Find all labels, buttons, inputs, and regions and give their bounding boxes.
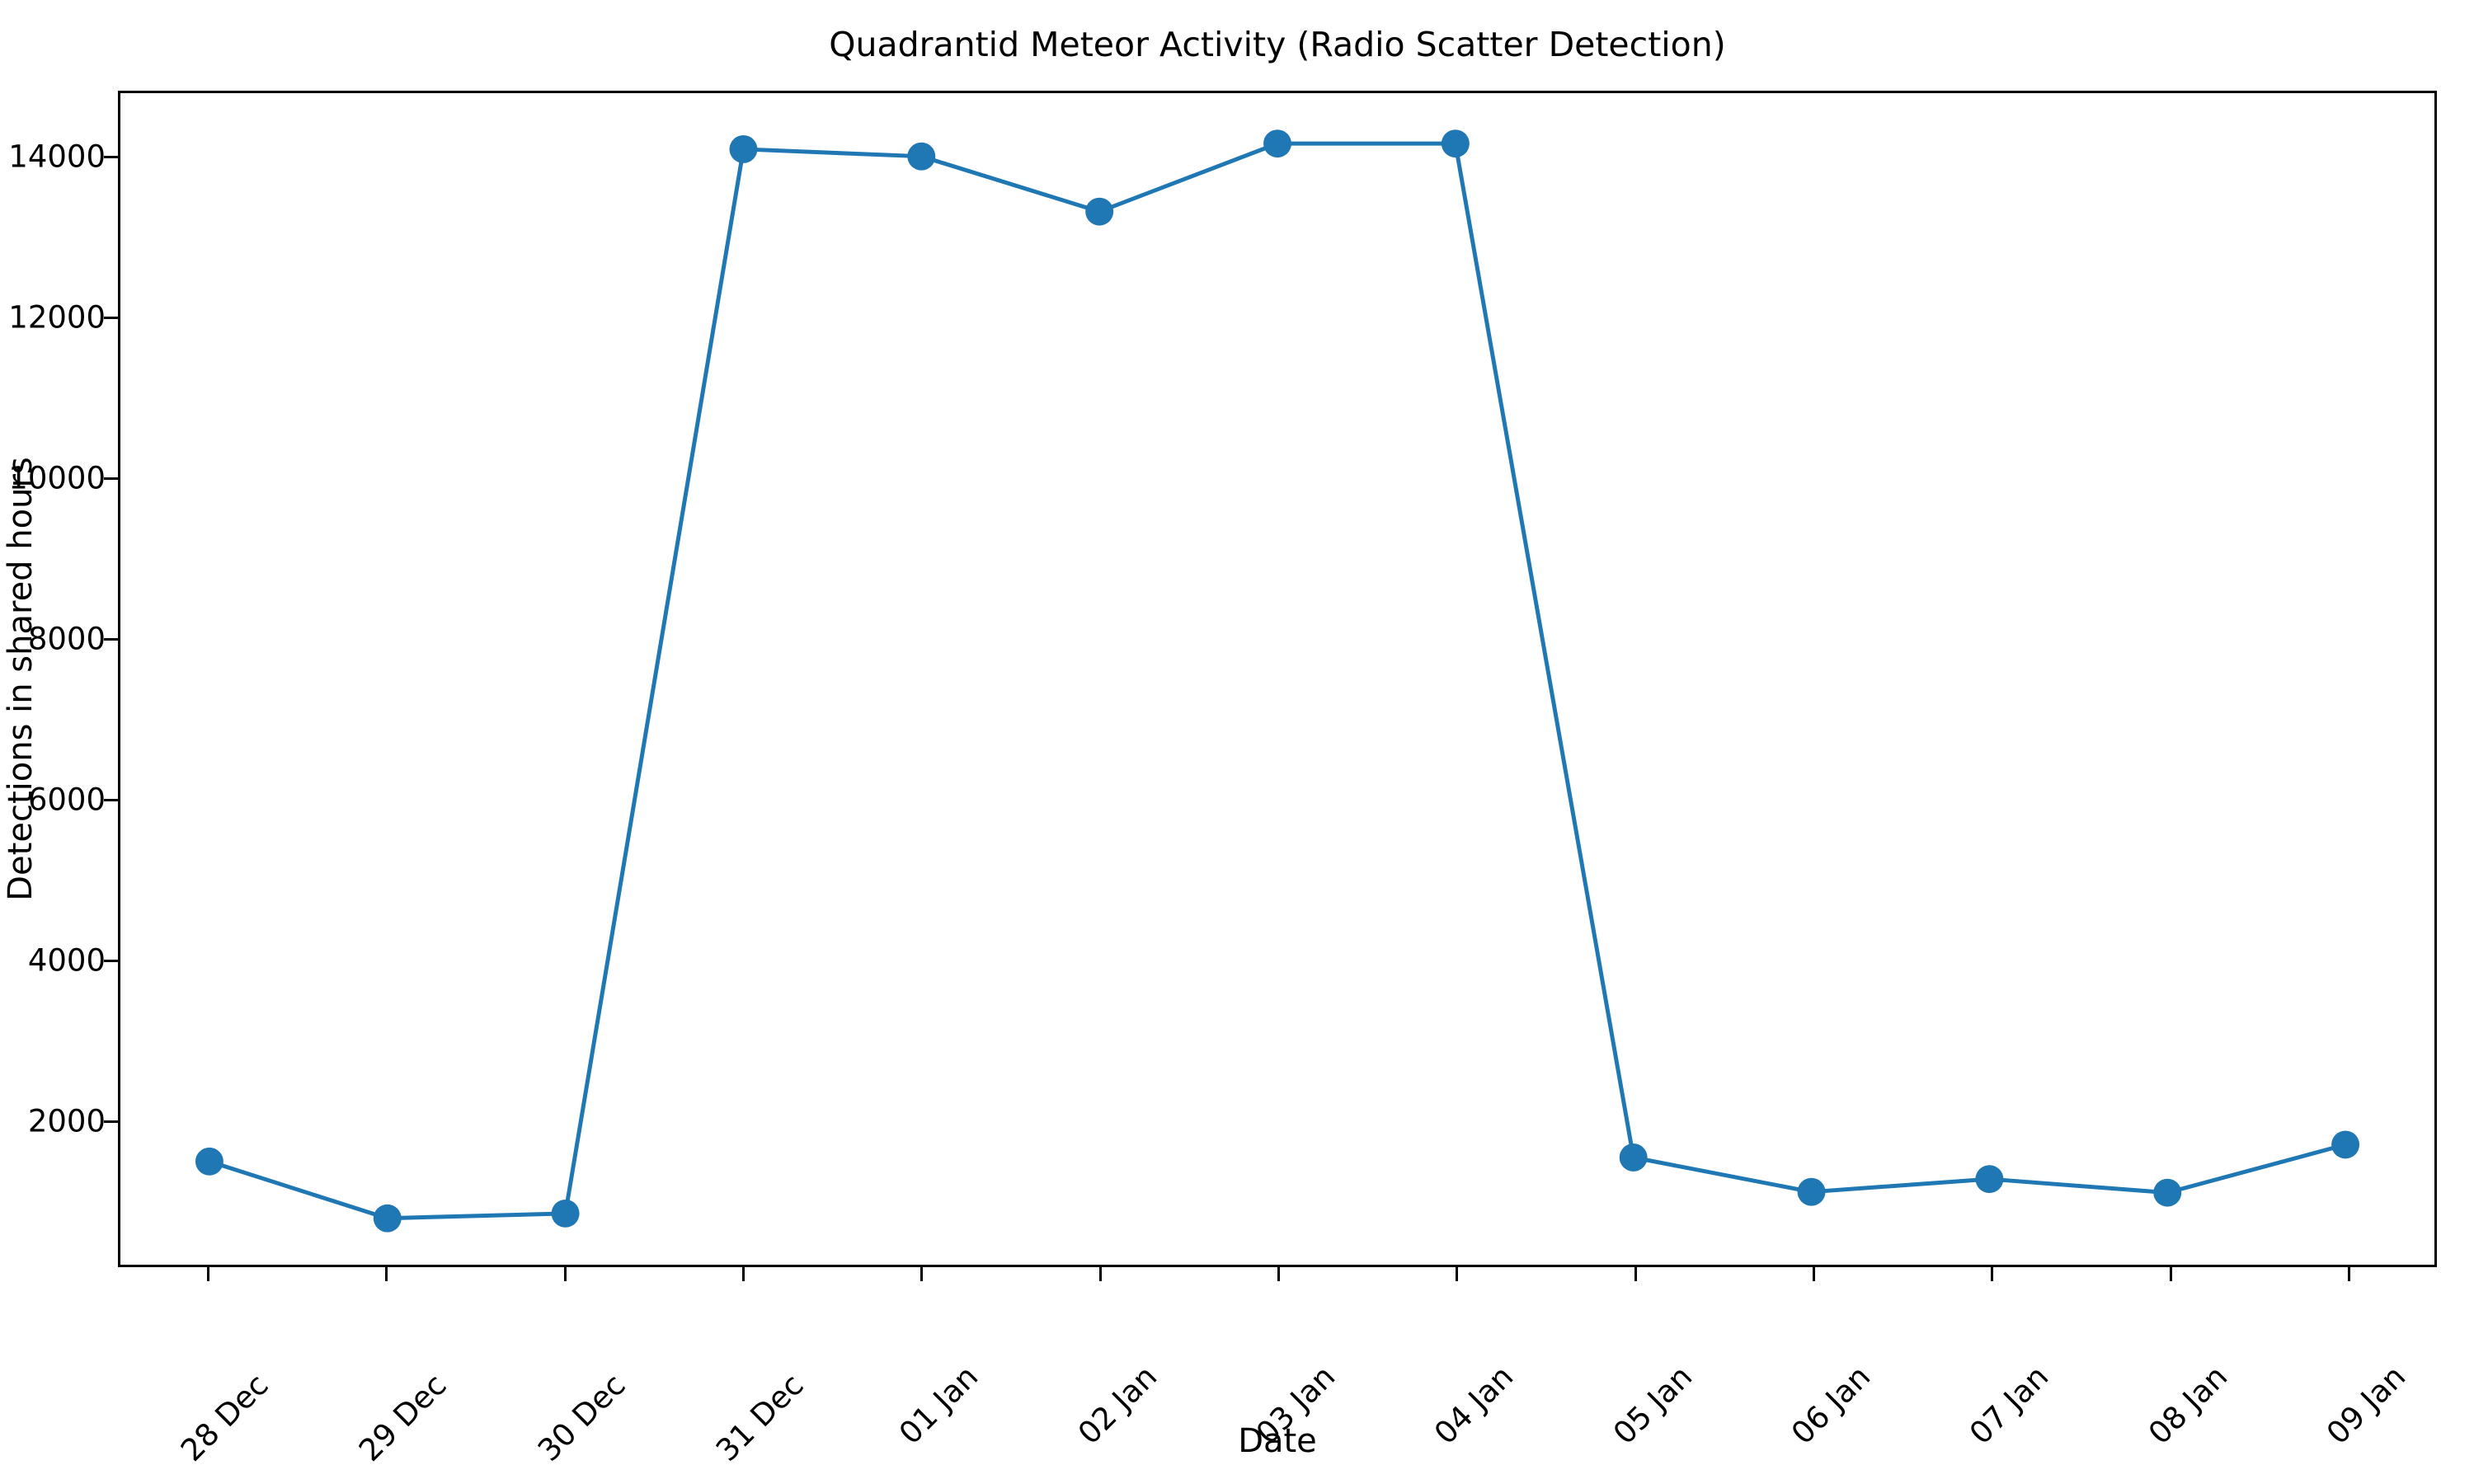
data-point-marker [907, 143, 935, 171]
x-tick-mark [207, 1267, 209, 1281]
data-point-marker [730, 135, 758, 163]
y-tick-mark [104, 317, 118, 319]
y-tick-mark [104, 477, 118, 480]
x-tick-mark [1099, 1267, 1102, 1281]
chart-title-container: Quadrantid Meteor Activity (Radio Scatte… [118, 25, 2437, 64]
x-tick-label: 07 Jan [2030, 1291, 2123, 1383]
data-point-marker [2153, 1179, 2181, 1207]
data-point-marker [195, 1148, 223, 1176]
x-tick-label: 03 Jan [1317, 1291, 1409, 1383]
series-line [209, 143, 2345, 1219]
x-tick-label: 01 Jan [960, 1291, 1052, 1383]
x-tick-label: 29 Dec [429, 1291, 530, 1392]
x-tick-mark [564, 1267, 567, 1281]
line-series-svg [120, 93, 2434, 1265]
x-tick-label: 06 Jan [1852, 1291, 1945, 1383]
x-tick-mark [920, 1267, 923, 1281]
data-point-marker [1620, 1144, 1648, 1172]
x-tick-mark [742, 1267, 745, 1281]
y-tick-mark [104, 638, 118, 641]
chart-figure: Quadrantid Meteor Activity (Radio Scatte… [0, 0, 2474, 1484]
x-tick-label: 02 Jan [1139, 1291, 1231, 1383]
x-tick-label: 09 Jan [2387, 1291, 2474, 1383]
x-tick-label: 08 Jan [2208, 1291, 2301, 1383]
x-tick-label: 31 Dec [785, 1291, 887, 1392]
y-tick-mark [104, 156, 118, 158]
x-tick-mark [1813, 1267, 1815, 1281]
data-point-marker [1975, 1165, 2003, 1193]
data-point-marker [1442, 129, 1470, 157]
y-tick-mark [104, 1120, 118, 1123]
x-tick-mark [2170, 1267, 2172, 1281]
x-tick-mark [1456, 1267, 1458, 1281]
data-point-marker [1798, 1178, 1826, 1206]
x-tick-label: 04 Jan [1495, 1291, 1587, 1383]
data-point-marker [374, 1205, 402, 1233]
x-tick-mark [385, 1267, 388, 1281]
y-tick-mark [104, 799, 118, 801]
x-axis-label: Date [118, 1422, 2437, 1460]
x-tick-label: 28 Dec [250, 1291, 351, 1392]
x-tick-mark [2348, 1267, 2350, 1281]
plot-area [118, 91, 2437, 1267]
y-axis-label: Detections in shared hours [0, 91, 41, 1267]
data-point-marker [552, 1200, 580, 1228]
x-tick-mark [1277, 1267, 1280, 1281]
data-point-marker [1263, 129, 1291, 157]
x-tick-mark [1634, 1267, 1637, 1281]
x-tick-label: 30 Dec [607, 1291, 708, 1392]
data-point-marker [2331, 1130, 2359, 1158]
page-title: Quadrantid Meteor Activity (Radio Scatte… [829, 25, 1726, 64]
y-tick-mark [104, 960, 118, 962]
x-tick-label: 05 Jan [1674, 1291, 1766, 1383]
data-point-marker [1085, 198, 1113, 226]
x-tick-mark [1991, 1267, 1993, 1281]
